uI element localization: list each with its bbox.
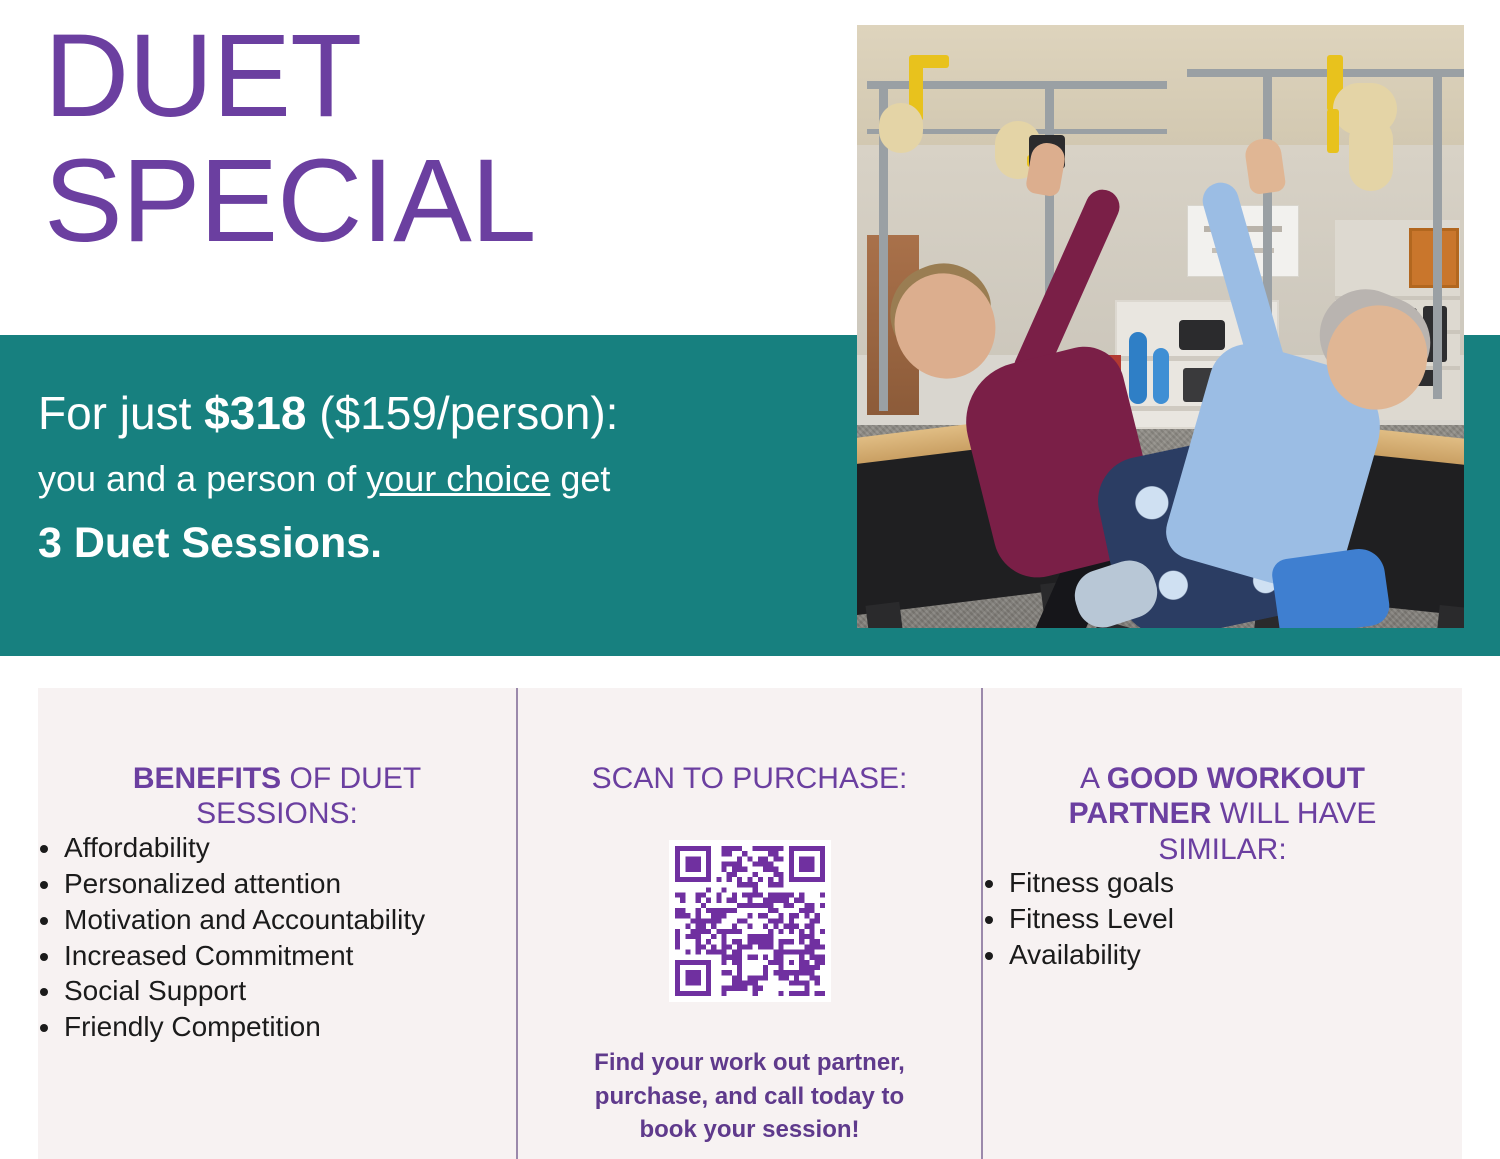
scan-column: SCAN TO PURCHASE: Find your work out par…	[518, 688, 981, 1159]
page-title: DUET SPECIAL	[44, 14, 844, 264]
benefits-heading: BENEFITS OF DUET SESSIONS:	[38, 761, 516, 832]
qr-code-container[interactable]	[669, 840, 831, 1002]
price-block: For just $318 ($159/person): you and a p…	[38, 386, 828, 570]
list-item: Personalized attention	[38, 868, 516, 900]
cta-text: Find your work out partner, purchase, an…	[580, 1046, 920, 1145]
partner-heading-pre: A	[1080, 762, 1107, 795]
benefits-heading-strong: BENEFITS	[133, 762, 281, 795]
sessions-line: 3 Duet Sessions.	[38, 518, 828, 570]
partner-column: A GOOD WORKOUT PARTNER WILL HAVE SIMILAR…	[983, 688, 1462, 1159]
hero-section: DUET SPECIAL For just $318 ($159/person)…	[0, 0, 1500, 656]
price-prefix: For just	[38, 387, 204, 439]
studio-photo	[857, 25, 1464, 628]
partner-heading: A GOOD WORKOUT PARTNER WILL HAVE SIMILAR…	[983, 761, 1462, 867]
qr-code[interactable]	[675, 846, 825, 996]
info-card: BENEFITS OF DUET SESSIONS: Affordability…	[38, 688, 1462, 1159]
benefits-column: BENEFITS OF DUET SESSIONS: Affordability…	[38, 688, 516, 1159]
your-choice-emphasis: your choice	[366, 458, 550, 499]
list-item: Friendly Competition	[38, 1011, 516, 1043]
list-item: Increased Commitment	[38, 940, 516, 972]
list-item: Fitness goals	[983, 867, 1462, 899]
price-suffix: ($159/person):	[307, 387, 619, 439]
sub-prefix: you and a person of	[38, 458, 366, 499]
price-headline: For just $318 ($159/person):	[38, 386, 828, 441]
scan-heading: SCAN TO PURCHASE:	[518, 761, 981, 796]
price-amount: $318	[204, 387, 306, 439]
sub-suffix: get	[550, 458, 610, 499]
list-item: Social Support	[38, 975, 516, 1007]
price-subline: you and a person of your choice get	[38, 457, 828, 500]
list-item: Motivation and Accountability	[38, 904, 516, 936]
partner-list: Fitness goals Fitness Level Availability	[983, 867, 1462, 971]
photo-blue-towel	[1270, 546, 1392, 628]
list-item: Availability	[983, 939, 1462, 971]
list-item: Affordability	[38, 832, 516, 864]
list-item: Fitness Level	[983, 903, 1462, 935]
benefits-list: Affordability Personalized attention Mot…	[38, 832, 516, 1043]
